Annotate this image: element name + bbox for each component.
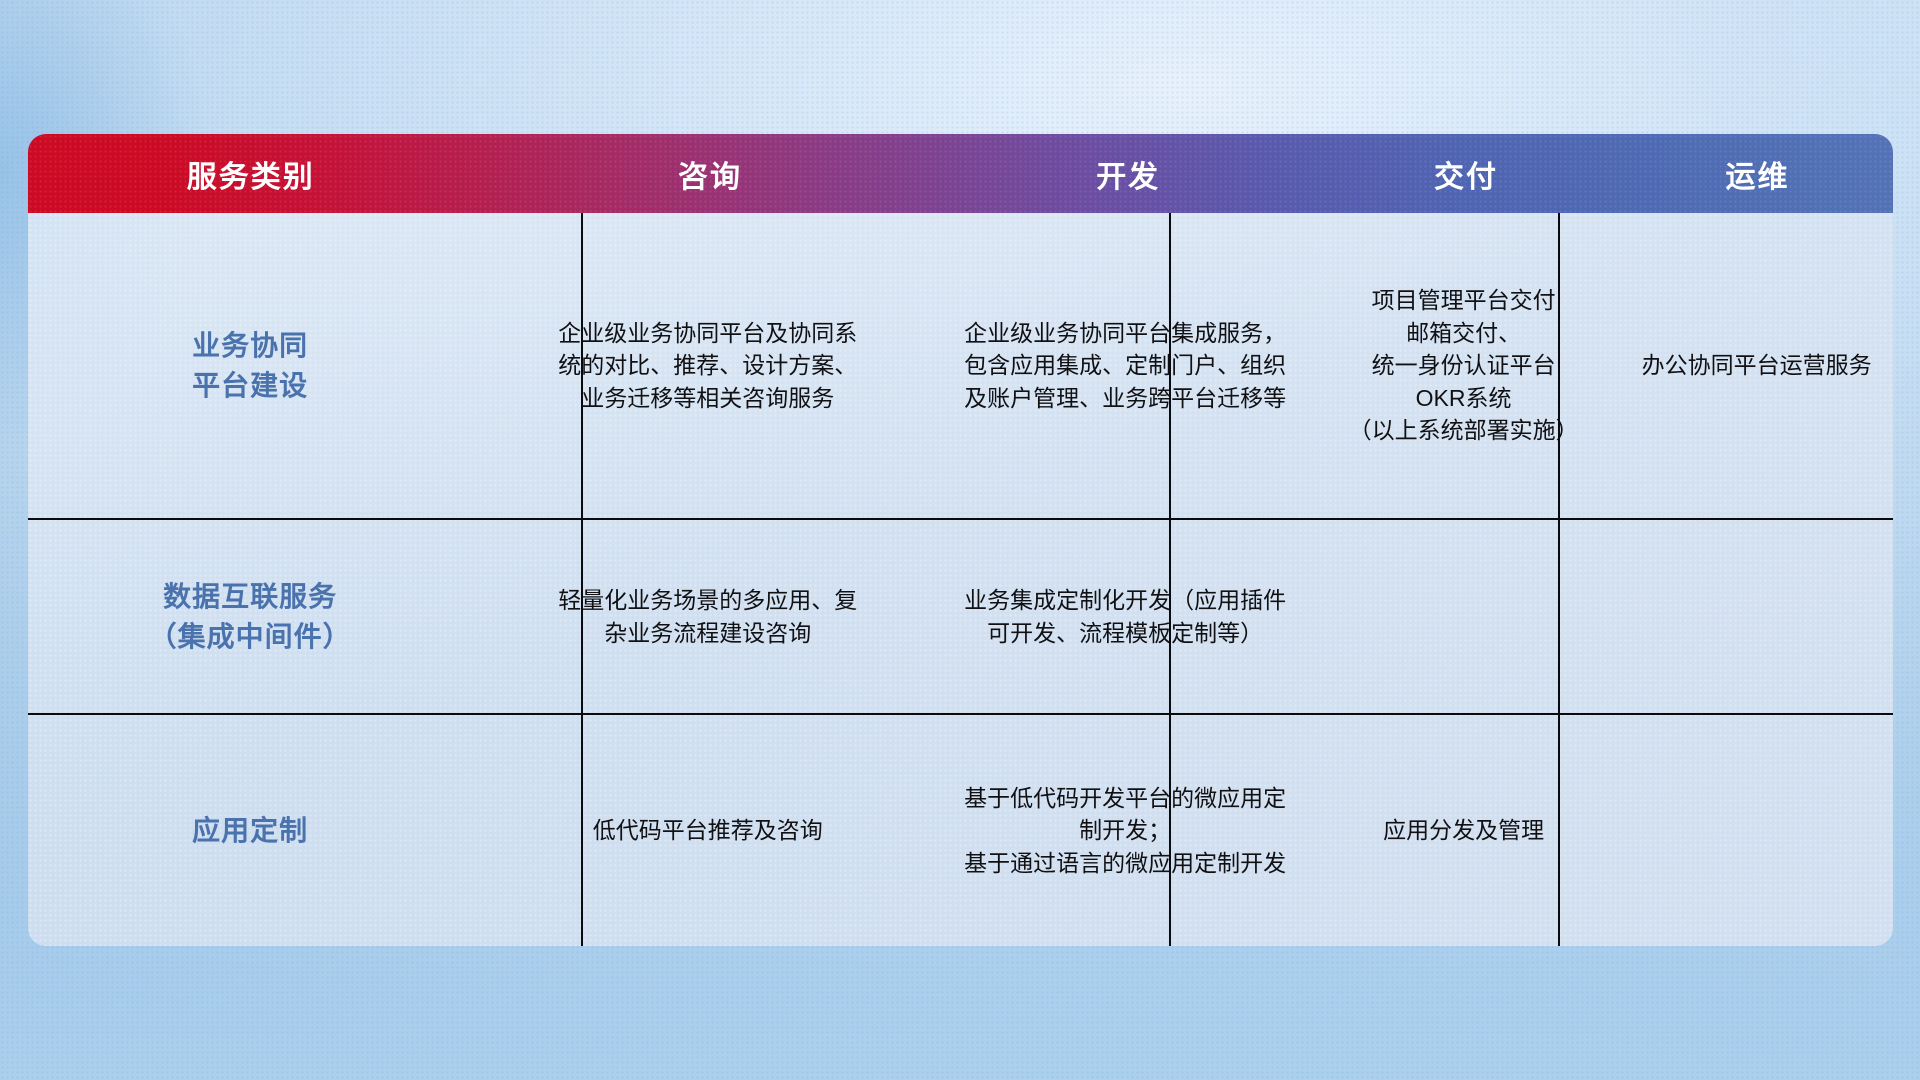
column-divider-3 (1558, 213, 1560, 946)
row-label-data-interconnect: 数据互联服务 （集成中间件） (28, 520, 472, 713)
cell-consulting-row1: 企业级业务协同平台及协同系 统的对比、推荐、设计方案、 业务迁移等相关咨询服务 (472, 213, 943, 518)
table-row: 数据互联服务 （集成中间件） 轻量化业务场景的多应用、复 杂业务流程建设咨询 业… (28, 520, 1893, 713)
column-divider-1 (581, 213, 583, 946)
row-divider-1 (28, 518, 1893, 520)
cell-delivery-row1: 项目管理平台交付 邮箱交付、 统一身份认证平台 OKR系统 （以上系统部署实施） (1307, 213, 1620, 518)
table-header-row: 服务类别 咨询 开发 交付 运维 (28, 134, 1893, 213)
cell-consulting-row3: 低代码平台推荐及咨询 (472, 715, 943, 946)
cell-operations-row1: 办公协同平台运营服务 (1620, 213, 1893, 518)
cell-delivery-row2 (1307, 520, 1620, 713)
column-header-service-category: 服务类别 (28, 152, 474, 196)
cell-development-row1: 企业级业务协同平台集成服务， 包含应用集成、定制门户、组织 及账户管理、业务跨平… (943, 213, 1307, 518)
cell-operations-row3 (1620, 715, 1893, 946)
column-header-delivery: 交付 (1310, 152, 1622, 196)
service-matrix-table: 服务类别 咨询 开发 交付 运维 业务协同 平台建设 企业级业务协同平台及协同系… (28, 134, 1893, 946)
cell-delivery-row3: 应用分发及管理 (1307, 715, 1620, 946)
cell-operations-row2 (1620, 520, 1893, 713)
cell-development-row2: 业务集成定制化开发（应用插件 可开发、流程模板定制等） (943, 520, 1307, 713)
table-row: 应用定制 低代码平台推荐及咨询 基于低代码开发平台的微应用定 制开发； 基于通过… (28, 715, 1893, 946)
column-header-development: 开发 (946, 152, 1310, 196)
table-body: 业务协同 平台建设 企业级业务协同平台及协同系 统的对比、推荐、设计方案、 业务… (28, 213, 1893, 946)
table-row: 业务协同 平台建设 企业级业务协同平台及协同系 统的对比、推荐、设计方案、 业务… (28, 213, 1893, 518)
row-label-app-customization: 应用定制 (28, 715, 472, 946)
column-header-consulting: 咨询 (474, 152, 947, 196)
cell-development-row3: 基于低代码开发平台的微应用定 制开发； 基于通过语言的微应用定制开发 (943, 715, 1307, 946)
row-label-business-collaboration: 业务协同 平台建设 (28, 213, 472, 518)
column-divider-2 (1169, 213, 1171, 946)
cell-consulting-row2: 轻量化业务场景的多应用、复 杂业务流程建设咨询 (472, 520, 943, 713)
column-header-operations: 运维 (1622, 152, 1893, 196)
row-divider-2 (28, 713, 1893, 715)
